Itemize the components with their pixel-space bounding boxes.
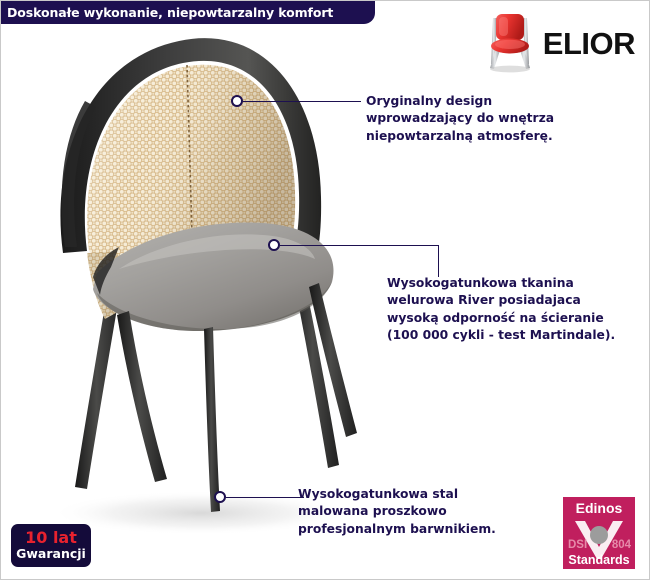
standards-title: Edinos: [563, 501, 635, 515]
callout-text-fabric: Wysokogatunkowa tkanina welurowa River p…: [387, 275, 615, 345]
callout-text-steel: Wysokogatunkowa stal malowana proszkowo …: [298, 486, 496, 538]
page-title: Doskonałe wykonanie, niepowtarzalny komf…: [7, 5, 333, 20]
brand-logo: ELIOR: [484, 12, 635, 74]
leader-line-design: [243, 101, 361, 103]
brand-wordmark: ELIOR: [543, 28, 635, 59]
callout-dot-fabric[interactable]: [268, 239, 280, 251]
callout-dot-steel[interactable]: [214, 491, 226, 503]
warranty-label: Gwarancji: [16, 547, 86, 561]
warranty-badge: 10 lat Gwarancji: [11, 524, 91, 567]
leader-line-steel: [226, 497, 304, 499]
header-banner: Doskonałe wykonanie, niepowtarzalny komf…: [0, 1, 375, 24]
standards-word: Standards: [563, 553, 635, 567]
leader-line-fabric-vertical: [438, 245, 440, 277]
product-chair-image: [1, 1, 421, 561]
red-chair-icon: [484, 12, 536, 74]
standards-dsi-label: DSI: [568, 539, 587, 551]
callout-text-design: Oryginalny design wprowadzający do wnętr…: [366, 93, 554, 145]
leader-line-fabric-horizontal: [280, 245, 439, 247]
product-infographic: Doskonałe wykonanie, niepowtarzalny komf…: [0, 0, 650, 580]
warranty-years: 10 lat: [25, 530, 77, 547]
standards-badge: Edinos DSI 804 Standards: [563, 497, 635, 569]
standards-number: 804: [612, 539, 631, 551]
callout-dot-design[interactable]: [231, 95, 243, 107]
